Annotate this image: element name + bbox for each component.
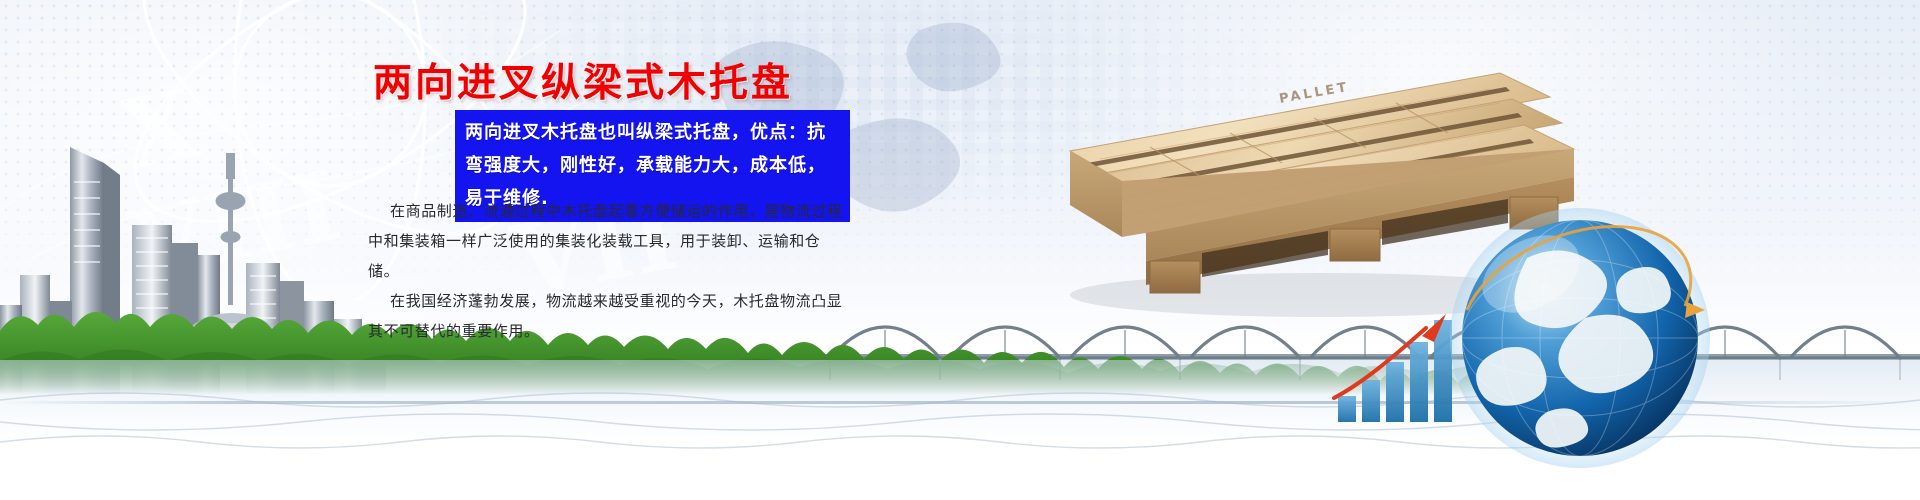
water-horizon-line xyxy=(0,401,1920,404)
arch-bridge xyxy=(820,262,1920,382)
svg-text:X: X xyxy=(120,66,208,192)
water-ripples xyxy=(0,380,1920,460)
growth-bar-chart xyxy=(1330,302,1500,422)
wooden-pallet-photo: PALLET xyxy=(1030,55,1590,325)
body-copy: 在商品制造、流通过程中木托盘起着方便储运的作用，是物流过程中和集装箱一样广泛使用… xyxy=(368,196,848,346)
body-paragraph-2: 在我国经济蓬勃发展，物流越来越受重视的今天，木托盘物流凸显其不可替代的重要作用。 xyxy=(368,286,848,346)
water-reflection xyxy=(0,360,1920,500)
upward-arrow xyxy=(1334,328,1426,398)
earth-globe xyxy=(1435,198,1725,488)
tree-band xyxy=(0,275,1920,395)
page-title: 两向进叉纵梁式木托盘 xyxy=(373,52,793,108)
halftone-dot-pattern xyxy=(0,0,1920,300)
city-skyline xyxy=(0,105,420,395)
body-paragraph-1: 在商品制造、流通过程中木托盘起着方便储运的作用，是物流过程中和集装箱一样广泛使用… xyxy=(368,196,848,286)
pallet-stencil-text: PALLET xyxy=(1278,80,1350,107)
promo-banner: X VIII VII X xyxy=(0,0,1920,500)
svg-text:VIII: VIII xyxy=(120,148,349,302)
light-swoosh-right xyxy=(980,0,1880,300)
